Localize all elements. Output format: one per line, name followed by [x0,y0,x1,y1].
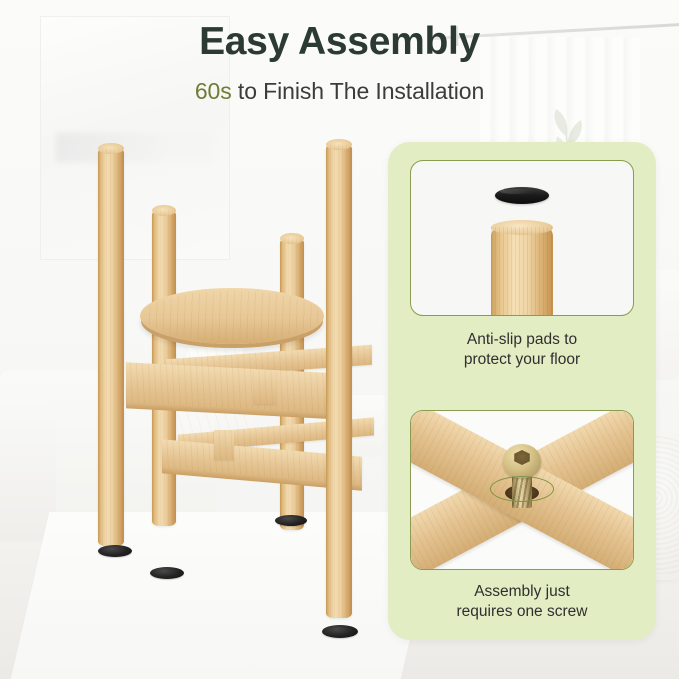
x-joint-illustration [411,411,633,569]
page-subtitle: 60s to Finish The Installation [0,78,679,105]
feature-panel: Anti-slip pads to protect your floor Ass… [388,142,656,640]
anti-slip-pad-front-left [150,567,184,579]
caption-line-1: Anti-slip pads to [467,331,577,348]
anti-slip-pad-back-right [275,515,307,526]
stand-leg-front-left [98,148,124,546]
anti-slip-pad-back-left [98,545,132,557]
subtitle-rest: to Finish The Installation [232,78,485,104]
rotation-indicator-icon [490,476,554,502]
caption-line-1: Assembly just [474,583,570,600]
feature-card-anti-slip-pads [410,160,634,316]
anti-slip-pad-icon [495,187,549,204]
stand-leg-front-right [326,144,352,618]
feature-caption-one-screw: Assembly just requires one screw [398,582,646,622]
caption-line-2: requires one screw [457,603,588,620]
bamboo-leg-top [491,227,553,316]
product-marketing-image: Easy Assembly 60s to Finish The Installa… [0,0,679,679]
subtitle-accent: 60s [195,78,232,104]
page-title: Easy Assembly [0,20,679,64]
anti-slip-pad-front-right [322,625,358,638]
caption-line-2: protect your floor [464,351,580,368]
stand-top-disc [140,288,324,344]
product-illustration [58,130,388,675]
feature-caption-anti-slip: Anti-slip pads to protect your floor [398,330,646,370]
stand-upper-rail-notch [254,370,276,404]
stand-lower-rail-notch [214,430,234,460]
feature-card-one-screw [410,410,634,570]
